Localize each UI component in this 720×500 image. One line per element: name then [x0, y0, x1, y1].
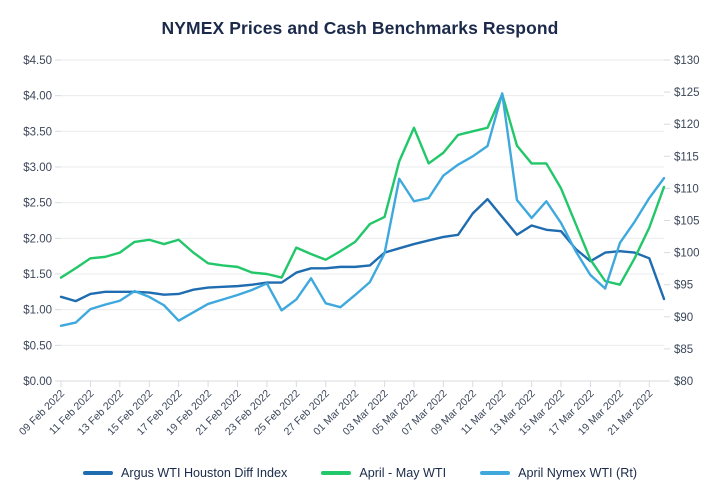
chart-legend: Argus WTI Houston Diff IndexApril - May … [0, 466, 720, 480]
y-axis-right-tick-label: $125 [674, 87, 700, 99]
data-series [61, 93, 664, 325]
series-line-2 [61, 93, 664, 325]
chart-container: NYMEX Prices and Cash Benchmarks Respond… [0, 0, 720, 500]
legend-item-0[interactable]: Argus WTI Houston Diff Index [83, 466, 287, 480]
series-line-0 [61, 199, 664, 301]
y-axis-right-tick-label: $100 [674, 248, 700, 260]
series-line-1 [61, 94, 664, 284]
y-axis-left-tick-label: $2.00 [23, 233, 52, 245]
legend-label: April Nymex WTI (Rt) [518, 466, 637, 480]
legend-swatch-icon [321, 471, 351, 474]
legend-label: April - May WTI [359, 466, 446, 480]
y-axis-left-labels: $0.00$0.50$1.00$1.50$2.00$2.50$3.00$3.50… [23, 55, 52, 388]
legend-item-2[interactable]: April Nymex WTI (Rt) [480, 466, 637, 480]
legend-item-1[interactable]: April - May WTI [321, 466, 446, 480]
y-axis-right-tick-label: $80 [674, 376, 693, 388]
y-axis-right-tick-label: $115 [674, 151, 699, 163]
y-axis-left-tick-label: $4.00 [23, 91, 52, 103]
y-axis-left-tick-label: $2.50 [23, 198, 52, 210]
y-axis-right-labels: $80$85$90$95$100$105$110$115$120$125$130 [674, 55, 700, 388]
y-axis-right-tick-label: $105 [674, 216, 700, 228]
y-axis-left-tick-label: $4.50 [23, 55, 52, 67]
y-axis-left-tick-label: $0.50 [23, 340, 52, 352]
x-axis-labels: 09 Feb 202211 Feb 202213 Feb 202215 Feb … [17, 388, 656, 438]
y-axis-right-tick-label: $95 [674, 280, 693, 292]
y-axis-right-tick-label: $120 [674, 119, 700, 131]
y-axis-left-tick-label: $1.50 [23, 269, 52, 281]
chart-plot-area: $0.00$0.50$1.00$1.50$2.00$2.50$3.00$3.50… [0, 0, 720, 500]
y-axis-right-tick-label: $110 [674, 183, 699, 195]
y-axis-left-tick-label: $0.00 [23, 376, 52, 388]
axis-tickmarks [55, 60, 670, 387]
legend-label: Argus WTI Houston Diff Index [121, 466, 287, 480]
y-axis-right-tick-label: $130 [674, 55, 700, 67]
y-axis-left-tick-label: $3.50 [23, 126, 52, 138]
y-axis-left-tick-label: $3.00 [23, 162, 52, 174]
legend-swatch-icon [83, 471, 113, 474]
y-axis-left-tick-label: $1.00 [23, 305, 52, 317]
y-axis-right-tick-label: $90 [674, 312, 693, 324]
legend-swatch-icon [480, 471, 510, 474]
y-axis-right-tick-label: $85 [674, 344, 693, 356]
